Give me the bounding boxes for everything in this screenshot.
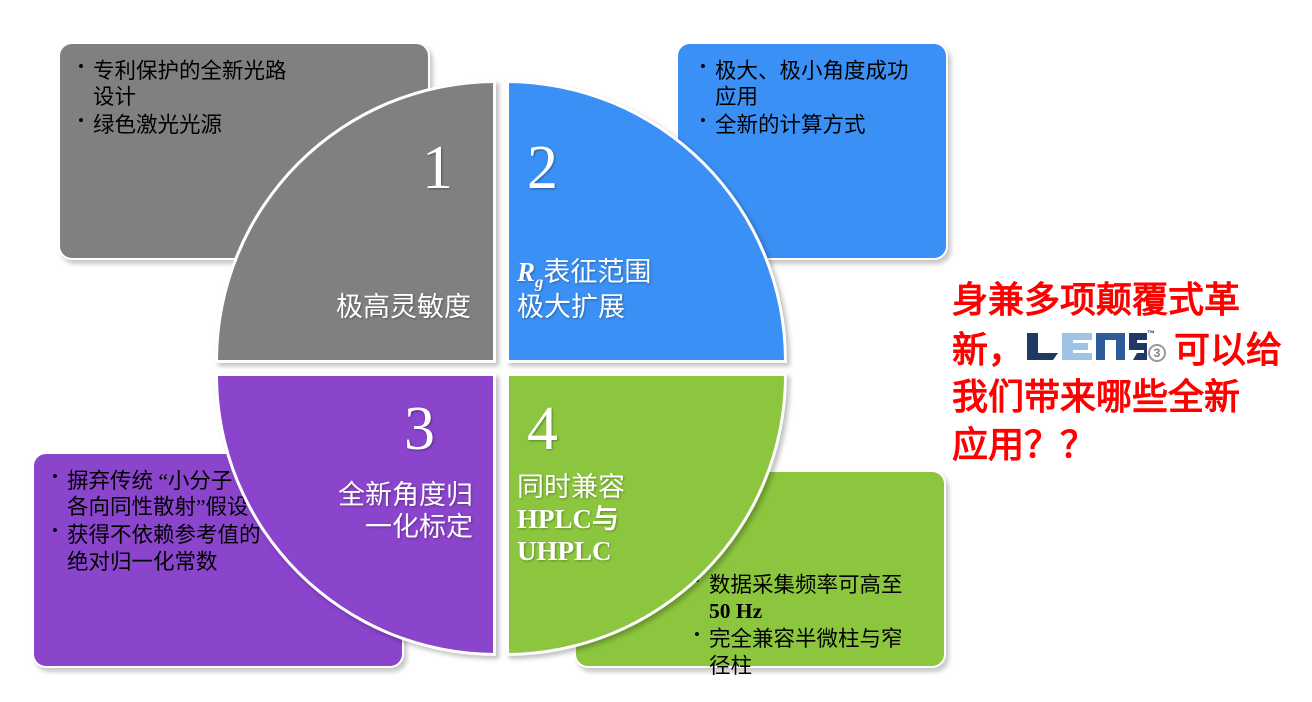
- quadrant-label-line1: 全新角度归: [338, 480, 473, 512]
- quadrant-label: 极高灵敏度: [336, 292, 471, 324]
- quadrant-label-line2: 极大扩展: [517, 292, 651, 324]
- question-text-block: 身兼多项颠覆式革 新， ™ 3 可以给 我们带来哪些全新 应用？？: [952, 276, 1298, 468]
- quadrant-2-blue[interactable]: 2 Rg表征范围 极大扩展: [506, 80, 787, 363]
- quadrant-label: Rg表征范围 极大扩展: [517, 257, 651, 324]
- quadrant-1-gray[interactable]: 1 极高灵敏度: [215, 80, 496, 363]
- quadrant-label: 全新角度归 一化标定: [338, 480, 473, 544]
- quadrant-label-line2: HPLC与: [517, 504, 625, 536]
- question-line-4: 应用？？: [952, 421, 1298, 469]
- quadrant-label-line1: 同时兼容: [517, 472, 625, 504]
- quadrant-number: 4: [527, 398, 558, 460]
- logo-trademark: ™: [1147, 329, 1155, 338]
- quadrant-label-line2: 一化标定: [338, 512, 473, 544]
- quadrant-label-rest: 表征范围: [543, 257, 651, 287]
- question-line-3: 我们带来哪些全新: [952, 373, 1298, 421]
- quadrant-wheel-diagram: 1 极高灵敏度 2 Rg表征范围 极大扩展 3 全新角度归 一化标定 4 同时兼…: [215, 80, 787, 656]
- question-line-1: 身兼多项颠覆式革: [952, 276, 1298, 324]
- bullet-line: 径柱: [709, 653, 928, 679]
- quadrant-4-green[interactable]: 4 同时兼容 HPLC与 UHPLC: [506, 373, 787, 656]
- logo-badge-3: 3: [1154, 346, 1161, 360]
- question-line-2-after: 可以给: [1174, 329, 1282, 370]
- quadrant-number: 3: [404, 398, 435, 460]
- quadrant-label: 同时兼容 HPLC与 UHPLC: [517, 472, 625, 568]
- quadrant-label-line3: UHPLC: [517, 536, 625, 568]
- lens3-logo: ™ 3: [1025, 328, 1173, 366]
- quadrant-3-purple[interactable]: 3 全新角度归 一化标定: [215, 373, 496, 656]
- slide-canvas: 专利保护的全新光路 设计 绿色激光光源 极大、极小角度成功 应用 全新的计算方式…: [0, 0, 1312, 702]
- rg-symbol: Rg: [517, 257, 543, 287]
- quadrant-number: 1: [422, 137, 453, 199]
- question-line-2-before: 新，: [952, 329, 1024, 370]
- quadrant-number: 2: [527, 137, 558, 199]
- question-line-2: 新， ™ 3 可以给: [952, 324, 1298, 374]
